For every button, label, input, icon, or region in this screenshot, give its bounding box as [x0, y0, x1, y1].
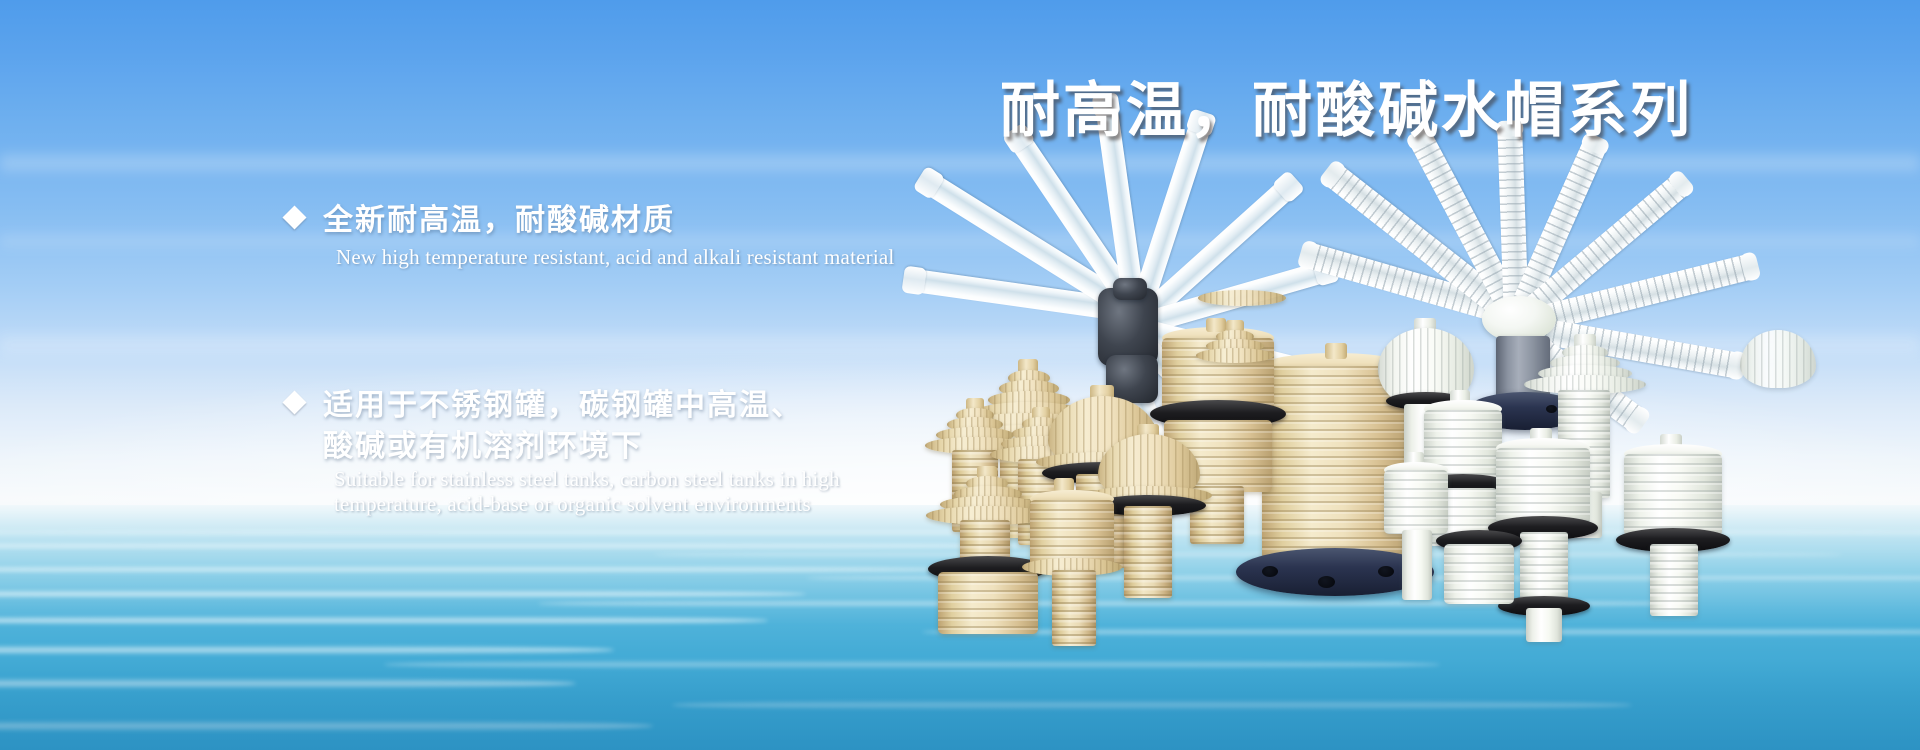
flange-bolt-hole	[1546, 405, 1557, 413]
cap-body	[1624, 454, 1722, 536]
product-banner: 耐高温，耐酸碱水帽系列 全新耐高温，耐酸碱材质 New high tempera…	[0, 0, 1920, 750]
flange-bolt-hole	[1262, 566, 1278, 577]
flange-bolt-hole	[1378, 566, 1394, 577]
cap-knob	[1206, 318, 1226, 332]
filter-knob	[1325, 343, 1347, 359]
feature-bullet-2: 适用于不锈钢罐，碳钢罐中高温、 酸碱或有机溶剂环境下	[286, 385, 803, 467]
threaded-stem	[1052, 570, 1096, 646]
diamond-bullet-icon	[282, 390, 306, 414]
feature-bullet-2-cn-line-1: 适用于不锈钢罐，碳钢罐中高温、	[323, 385, 803, 426]
threaded-stem	[1520, 532, 1568, 604]
feature-bullet-1-cn-line-1: 全新耐高温，耐酸碱材质	[323, 204, 675, 237]
diamond-bullet-icon	[282, 205, 306, 229]
page-title: 耐高温，耐酸碱水帽系列	[1000, 62, 1693, 149]
feature-bullet-2-en-line-1: Suitable for stainless steel tanks, carb…	[334, 467, 840, 492]
feature-bullet-2-en-line-2: temperature, acid-base or organic solven…	[334, 492, 840, 517]
squat-cylinder	[938, 572, 1038, 634]
cap-body	[1384, 470, 1448, 534]
hub-cap-dark	[1113, 278, 1147, 300]
cap-body	[1496, 448, 1590, 524]
background-beige-tier	[1198, 290, 1286, 306]
feature-bullet-2-en-lines: Suitable for stainless steel tanks, carb…	[334, 467, 840, 517]
background-white-dome	[1740, 330, 1816, 388]
plain-stem	[1402, 530, 1432, 600]
threaded-stem	[1124, 506, 1172, 598]
cap-tier-brim	[1196, 348, 1274, 363]
flange-bolt-hole	[1318, 576, 1335, 588]
plain-stem	[1526, 608, 1562, 642]
feature-bullet-2-cn-line-2: 酸碱或有机溶剂环境下	[323, 426, 803, 467]
feature-bullet-1-en-line-1: New high temperature resistant, acid and…	[336, 245, 894, 270]
threaded-stem	[1650, 544, 1698, 616]
cap-body	[1444, 544, 1514, 604]
feature-bullet-1: 全新耐高温，耐酸碱材质	[286, 200, 675, 241]
